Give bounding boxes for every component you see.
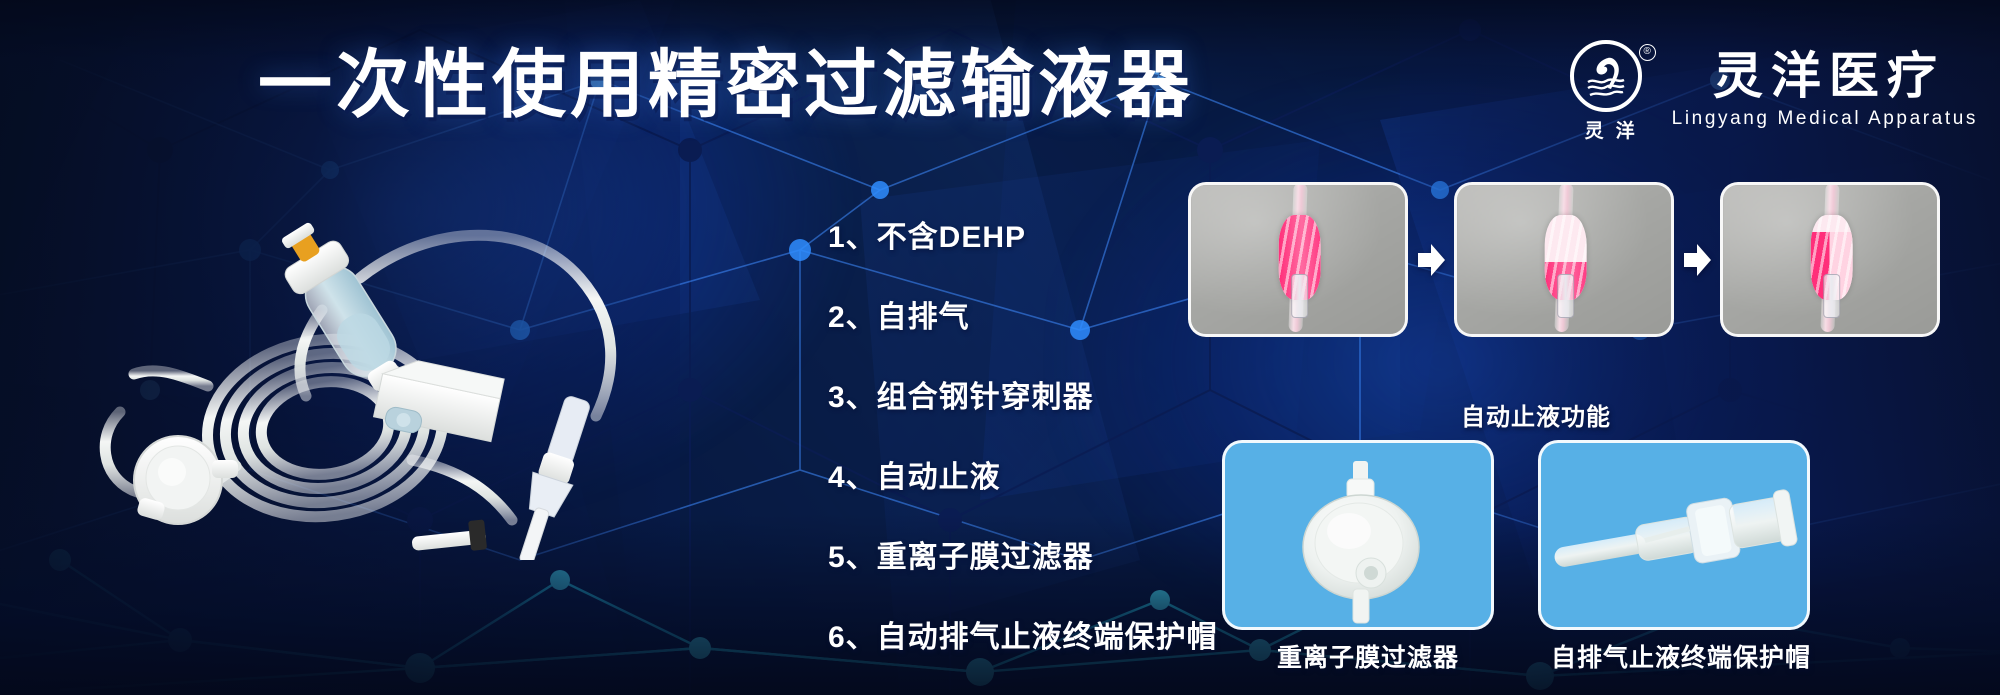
sequence-arrow-icon-2	[1674, 242, 1720, 278]
feature-item-4: 4、自动止液	[828, 452, 1218, 496]
component-card-row	[1222, 440, 1810, 630]
auto-stop-frame-2	[1454, 182, 1674, 337]
auto-vent-stop-end-cap-card	[1538, 440, 1810, 630]
product-banner: 一次性使用精密过滤输液器 ® 灵洋 灵洋医疗 Lingyang Medical …	[0, 0, 2000, 695]
auto-stop-frame-3	[1720, 182, 1940, 337]
feature-item-6: 6、自动排气止液终端保护帽	[828, 612, 1218, 656]
heavy-ion-membrane-filter-card	[1222, 440, 1494, 630]
heavy-ion-membrane-filter-illustration	[1225, 443, 1494, 630]
feature-item-1: 1、不含DEHP	[828, 212, 1218, 256]
emblem-artwork	[1578, 48, 1634, 104]
heavy-ion-membrane-filter-caption: 重离子膜过滤器	[1277, 638, 1459, 674]
auto-stop-demo-row	[1188, 182, 1940, 337]
feature-list: 1、不含DEHP 2、自排气 3、组合钢针穿刺器 4、自动止液 5、重离子膜过滤…	[828, 212, 1218, 656]
auto-stop-demo-caption: 自动止液功能	[1461, 397, 1611, 432]
logo-emblem: ® 灵洋	[1564, 40, 1656, 144]
wave-bird-emblem-icon	[1570, 40, 1642, 112]
logo-wordmark: 灵洋医疗 Lingyang Medical Apparatus	[1672, 50, 1978, 131]
auto-vent-stop-end-cap-illustration	[1541, 443, 1810, 630]
feature-item-2: 2、自排气	[828, 292, 1218, 336]
banner-title: 一次性使用精密过滤输液器	[258, 48, 1194, 122]
tube-connector	[1823, 274, 1840, 318]
sequence-arrow-icon-1	[1408, 242, 1454, 278]
brand-logo: ® 灵洋 灵洋医疗 Lingyang Medical Apparatus	[1564, 40, 1978, 144]
infusion-set-illustration	[60, 160, 710, 560]
logo-name-cn: 灵洋医疗	[1705, 50, 1945, 103]
tube-connector	[1291, 274, 1308, 318]
tube-connector	[1557, 274, 1574, 318]
product-photo	[60, 160, 710, 560]
auto-stop-frame-1	[1188, 182, 1408, 337]
feature-item-3: 3、组合钢针穿刺器	[828, 372, 1218, 416]
logo-emblem-caption: 灵洋	[1564, 116, 1656, 143]
feature-item-5: 5、重离子膜过滤器	[828, 532, 1218, 576]
auto-vent-stop-end-cap-caption: 自排气止液终端保护帽	[1551, 638, 1811, 674]
registered-trademark-icon: ®	[1639, 44, 1656, 61]
logo-name-en: Lingyang Medical Apparatus	[1672, 108, 1978, 130]
